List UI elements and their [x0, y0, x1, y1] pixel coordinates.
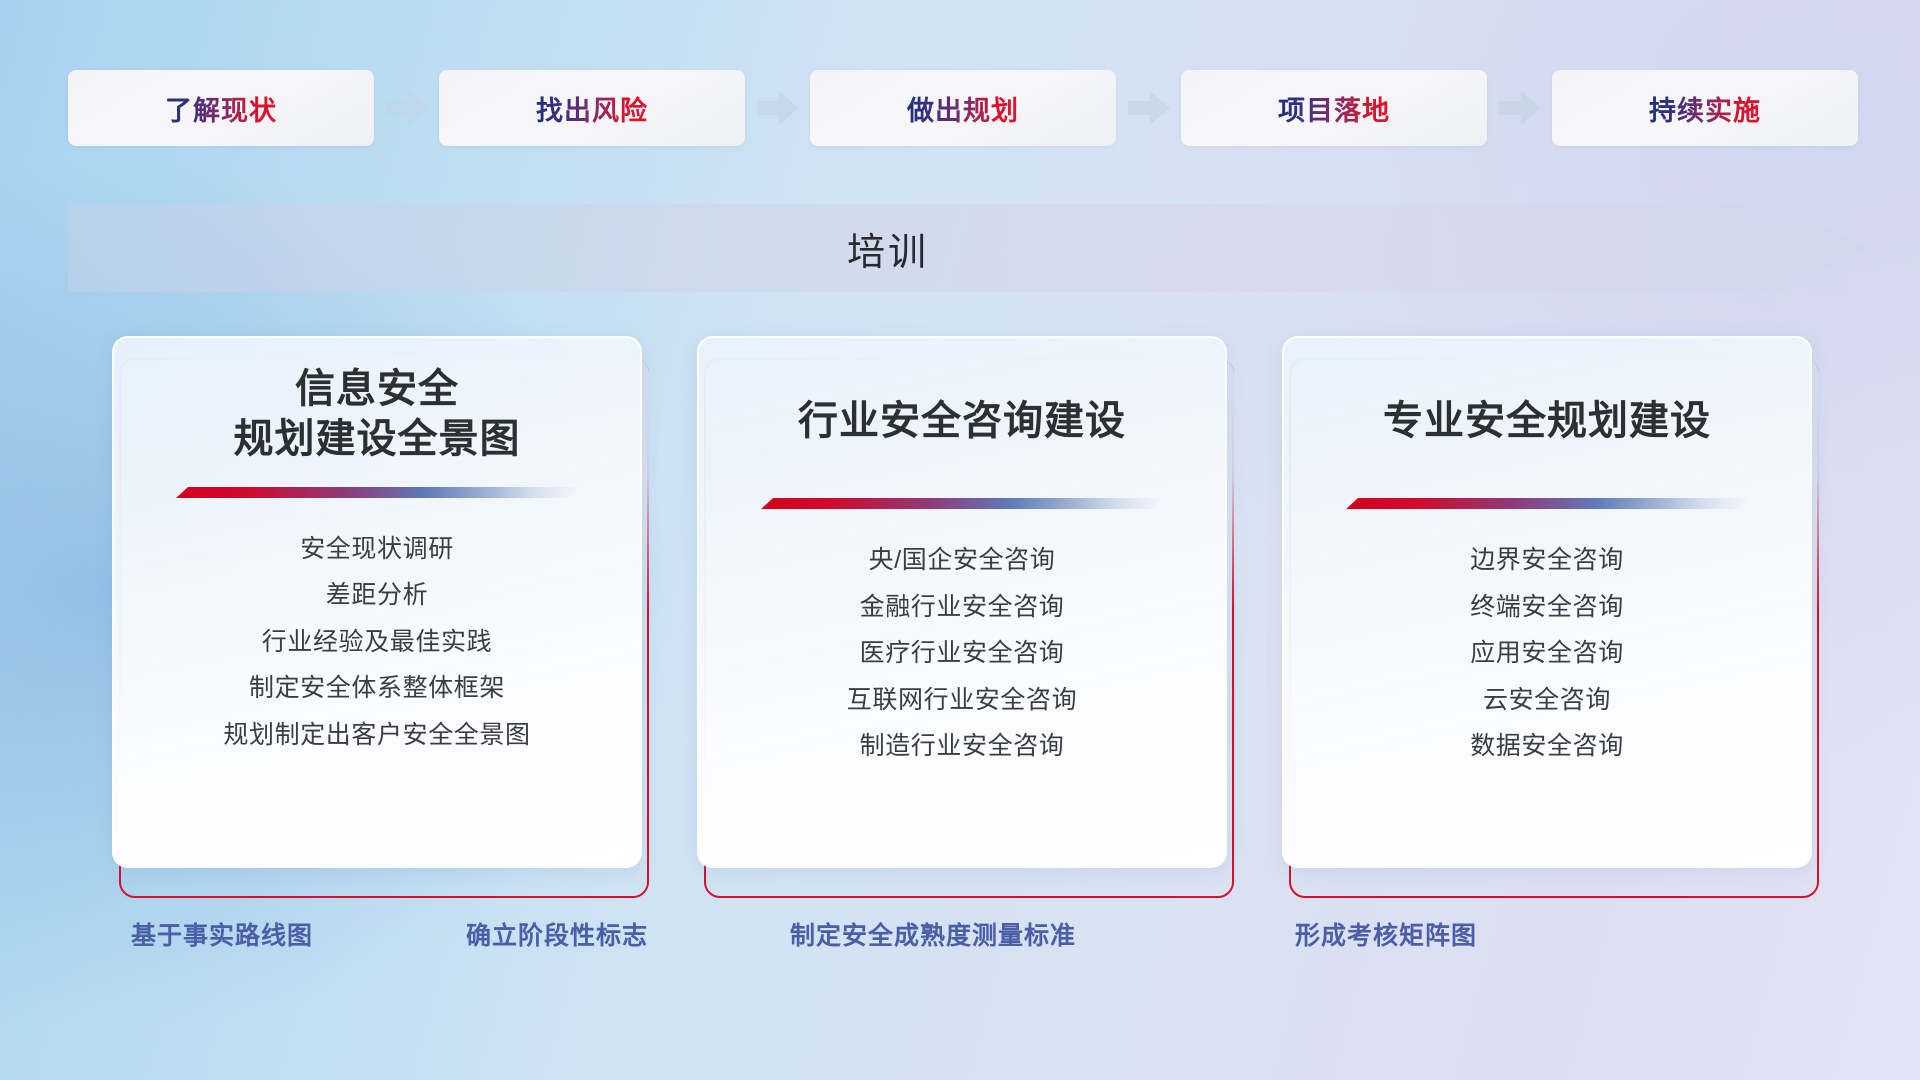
right-arrow-icon — [1499, 91, 1541, 125]
list-item: 数据安全咨询 — [1470, 729, 1624, 765]
flow-step-3[interactable]: 做出规划 — [810, 70, 1116, 146]
caption-3: 制定安全成熟度测量标准 — [790, 916, 1076, 952]
card-2-title: 行业安全咨询建设 — [699, 396, 1225, 446]
caption-1: 基于事实路线图 — [131, 916, 313, 952]
card-1-title: 信息安全 规划建设全景图 — [114, 364, 640, 465]
training-banner-label: 培训 — [68, 196, 1708, 300]
list-item: 应用安全咨询 — [1470, 636, 1624, 672]
list-item: 金融行业安全咨询 — [860, 590, 1065, 626]
list-item: 云安全咨询 — [1483, 683, 1611, 719]
card-wrapper-1: 信息安全 规划建设全景图 — [112, 336, 642, 886]
flow-step-1-inner: 了解现状 — [68, 70, 374, 146]
slide-canvas: 了解现状 找出风险 做出规划 项目落地 — [0, 0, 1920, 1080]
right-arrow-icon — [1128, 91, 1170, 125]
list-item: 制造行业安全咨询 — [860, 729, 1065, 765]
list-item: 安全现状调研 — [300, 532, 454, 568]
right-arrow-icon — [386, 91, 428, 125]
caption-2: 确立阶段性标志 — [466, 916, 648, 952]
card-wrapper-2: 行业安全咨询建设 — [697, 336, 1227, 886]
card-1[interactable]: 信息安全 规划建设全景图 — [112, 336, 642, 868]
flow-step-3-label: 做出规划 — [907, 89, 1019, 128]
card-2[interactable]: 行业安全咨询建设 — [697, 336, 1227, 868]
list-item: 边界安全咨询 — [1470, 543, 1624, 579]
right-arrow-icon — [757, 91, 799, 125]
captions-row: 基于事实路线图 确立阶段性标志 制定安全成熟度测量标准 形成考核矩阵图 — [0, 916, 1920, 966]
card-3-title: 专业安全规划建设 — [1284, 396, 1810, 446]
card-3-divider — [1346, 498, 1748, 509]
flow-step-2[interactable]: 找出风险 — [439, 70, 745, 146]
card-3-list: 边界安全咨询 终端安全咨询 应用安全咨询 云安全咨询 数据安全咨询 — [1284, 543, 1810, 765]
card-2-divider — [761, 498, 1163, 509]
flow-step-1[interactable]: 了解现状 — [68, 70, 374, 146]
list-item: 医疗行业安全咨询 — [860, 636, 1065, 672]
flow-step-4[interactable]: 项目落地 — [1181, 70, 1487, 146]
caption-4: 形成考核矩阵图 — [1295, 916, 1477, 952]
flow-step-1-label: 了解现状 — [165, 89, 277, 128]
flow-step-2-inner: 找出风险 — [439, 70, 745, 146]
flow-step-5[interactable]: 持续实施 — [1552, 70, 1858, 146]
cards-row: 信息安全 规划建设全景图 — [112, 336, 1812, 886]
card-1-divider — [176, 487, 578, 498]
list-item: 规划制定出客户安全全景图 — [223, 718, 530, 754]
training-banner: 培训 — [68, 196, 1868, 300]
list-item: 制定安全体系整体框架 — [249, 671, 505, 707]
flow-step-4-inner: 项目落地 — [1181, 70, 1487, 146]
flow-step-3-inner: 做出规划 — [810, 70, 1116, 146]
flow-step-2-label: 找出风险 — [536, 89, 648, 128]
list-item: 差距分析 — [326, 578, 428, 614]
card-2-list: 央/国企安全咨询 金融行业安全咨询 医疗行业安全咨询 互联网行业安全咨询 制造行… — [699, 543, 1225, 765]
list-item: 央/国企安全咨询 — [869, 543, 1056, 579]
flow-step-5-inner: 持续实施 — [1552, 70, 1858, 146]
card-wrapper-3: 专业安全规划建设 — [1282, 336, 1812, 886]
card-1-list: 安全现状调研 差距分析 行业经验及最佳实践 制定安全体系整体框架 规划制定出客户… — [114, 532, 640, 754]
process-flow-row: 了解现状 找出风险 做出规划 项目落地 — [68, 70, 1858, 146]
card-3[interactable]: 专业安全规划建设 — [1282, 336, 1812, 868]
list-item: 终端安全咨询 — [1470, 590, 1624, 626]
list-item: 行业经验及最佳实践 — [262, 625, 492, 661]
list-item: 互联网行业安全咨询 — [847, 683, 1077, 719]
flow-step-5-label: 持续实施 — [1649, 89, 1761, 128]
flow-step-4-label: 项目落地 — [1278, 89, 1390, 128]
